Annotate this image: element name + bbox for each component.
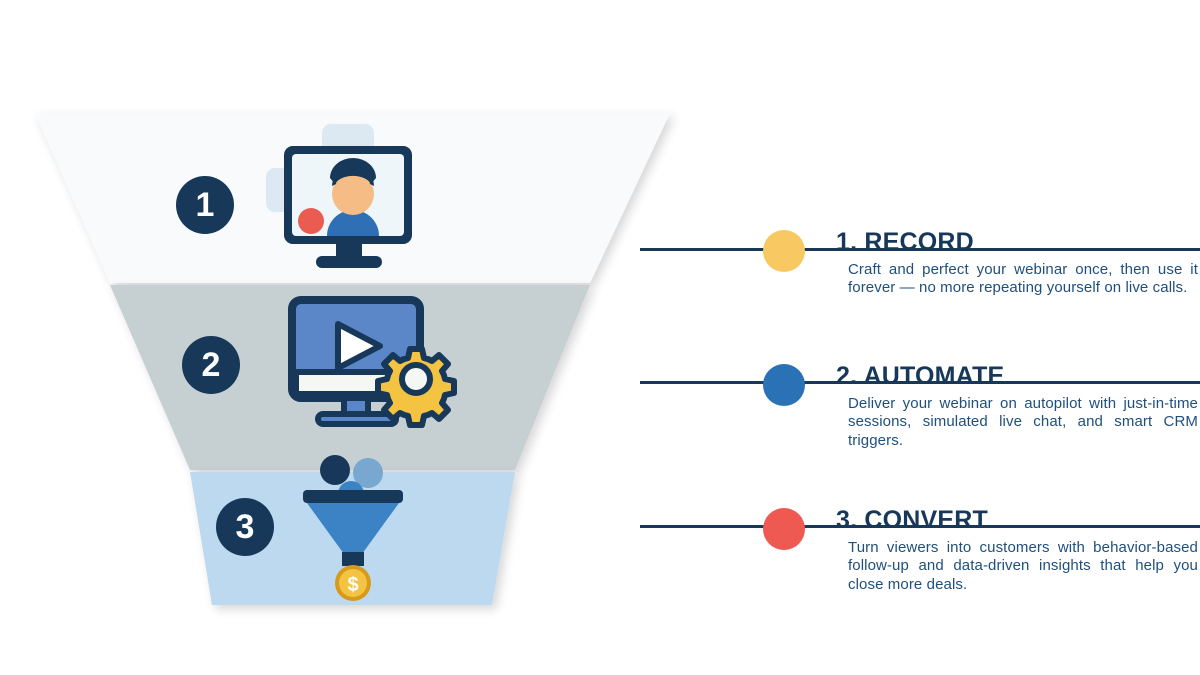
play-gear-monitor-icon — [288, 296, 463, 436]
steps-list: 1. RECORD Craft and perfect your webinar… — [640, 0, 1200, 675]
step-heading-2: 2. AUTOMATE — [836, 362, 1004, 391]
step-marker-dot-3 — [763, 508, 805, 550]
infographic-canvas: 1 2 3 — [0, 0, 1200, 675]
funnel-step-number-3: 3 — [216, 498, 274, 556]
conversion-funnel-coin-icon: $ — [292, 446, 422, 601]
content-panel: Your Best Webinar. On Repeat. Record onc… — [640, 0, 1200, 675]
step-body-2: Deliver your webinar on autopilot with j… — [848, 395, 1198, 450]
step-body-3: Turn viewers into customers with behavio… — [848, 539, 1198, 594]
svg-text:$: $ — [347, 574, 358, 596]
step-heading-3: 3. CONVERT — [836, 506, 988, 535]
funnel-step-number-2: 2 — [182, 336, 240, 394]
funnel-step-number-1: 1 — [176, 176, 234, 234]
step-marker-dot-1 — [763, 230, 805, 272]
step-marker-dot-2 — [763, 364, 805, 406]
step-body-1: Craft and perfect your webinar once, the… — [848, 261, 1198, 298]
step-heading-1: 1. RECORD — [836, 228, 974, 257]
webinar-monitor-icon — [264, 120, 434, 285]
funnel-graphic: 1 2 3 — [0, 0, 700, 675]
